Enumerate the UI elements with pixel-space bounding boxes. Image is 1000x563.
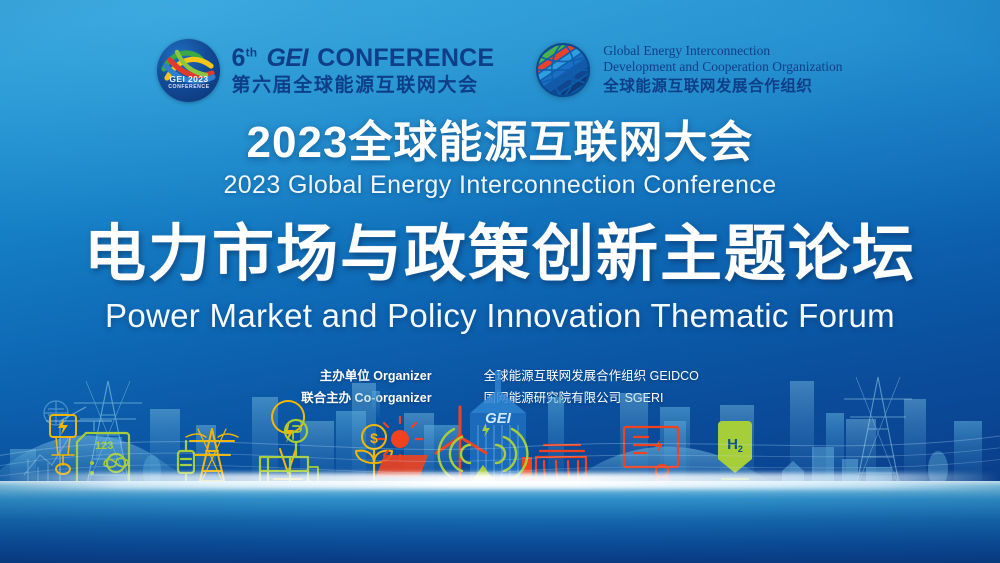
tree-icon (143, 455, 161, 487)
tree-icon (928, 451, 948, 487)
gei-wordmark: GEI (264, 44, 310, 72)
svg-text:$: $ (370, 430, 378, 446)
conference-title-en: 2023 Global Energy Interconnection Confe… (0, 170, 1000, 200)
gei-edition-number: 6 (231, 44, 245, 72)
conference-title-cn: 2023全球能源互联网大会 (0, 121, 1000, 165)
geidco-cn: 全球能源互联网发展合作组织 (603, 78, 842, 96)
geidco-en-line2: Development and Cooperation Organization (603, 59, 842, 75)
gei-subtitle-cn: 第六届全球能源互联网大会 (231, 76, 494, 95)
roundel-text: GEI 2023 CONFERENCE (157, 75, 220, 90)
header-logos: GEI 2023 CONFERENCE 6th GEI CONFERENCE 第… (0, 36, 1000, 104)
gei-conference-headline: 6th GEI CONFERENCE (231, 46, 494, 71)
geidco-text-block: Global Energy Interconnection Developmen… (603, 43, 842, 96)
roundel-line2: CONFERENCE (157, 85, 220, 90)
gei-building-label: GEI (485, 410, 512, 427)
forum-title-en: Power Market and Policy Innovation Thema… (0, 296, 1000, 336)
city-skyline-scene: GEI (0, 363, 1000, 563)
geidco-en-line1: Global Energy Interconnection (603, 43, 842, 59)
forum-title-cn: 电力市场与政策创新主题论坛 (0, 222, 1000, 289)
gei-edition-suffix: th (246, 45, 258, 59)
striped-globe-icon (534, 41, 592, 99)
roundel-line1: GEI 2023 (157, 75, 220, 84)
smart-meter-label: 123 (95, 440, 113, 452)
gei-conference-word: CONFERENCE (317, 44, 494, 72)
gei-conference-roundel-icon: GEI 2023 CONFERENCE (157, 39, 220, 102)
conference-banner: GEI 2023 CONFERENCE 6th GEI CONFERENCE 第… (0, 0, 1000, 563)
geidco-logo: Global Energy Interconnection Developmen… (534, 41, 842, 99)
gei-wordmark-block: 6th GEI CONFERENCE 第六届全球能源互联网大会 (231, 46, 494, 95)
gei-conference-logo: GEI 2023 CONFERENCE 6th GEI CONFERENCE 第… (157, 39, 494, 102)
